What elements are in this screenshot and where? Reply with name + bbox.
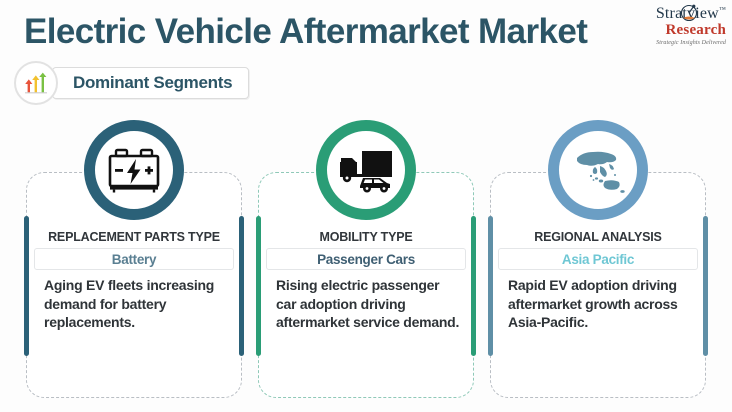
logo-tagline: Strategic Insights Delivered [634, 40, 726, 46]
card-regional-analysis[interactable]: REGIONAL ANALYSIS Asia Pacific Rapid EV … [490, 172, 706, 398]
dominant-segments-badge: Dominant Segments [14, 61, 249, 105]
logo-trademark: ™ [719, 6, 726, 14]
growth-arrows-icon [23, 72, 49, 94]
card-category-label: MOBILITY TYPE [258, 230, 474, 244]
asia-pacific-map-icon [567, 145, 629, 195]
card-value: Passenger Cars [317, 252, 415, 267]
truck-car-icon [335, 145, 397, 195]
logo-mark-icon [678, 4, 700, 24]
card-value: Battery [112, 252, 156, 267]
card-description: Rising electric passenger car adoption d… [276, 276, 460, 332]
infographic-canvas: Electric Vehicle Aftermarket Market Stra… [0, 0, 732, 412]
card-icon-ring [548, 120, 648, 220]
growth-arrows-circle [14, 61, 58, 105]
stratview-research-logo: Stratview™ Research Strategic Insights D… [634, 6, 726, 56]
segment-cards: REPLACEMENT PARTS TYPE Battery Aging EV … [0, 118, 732, 403]
dominant-segments-label-box: Dominant Segments [52, 67, 249, 99]
card-icon-ring [316, 120, 416, 220]
card-mobility-type[interactable]: MOBILITY TYPE Passenger Cars Rising elec… [258, 172, 474, 398]
card-value-pill: Asia Pacific [498, 248, 698, 270]
card-icon-ring [84, 120, 184, 220]
card-value-pill: Passenger Cars [266, 248, 466, 270]
page-title: Electric Vehicle Aftermarket Market [24, 12, 587, 52]
card-category-label: REGIONAL ANALYSIS [490, 230, 706, 244]
dominant-segments-label: Dominant Segments [73, 73, 232, 93]
card-replacement-parts-type[interactable]: REPLACEMENT PARTS TYPE Battery Aging EV … [26, 172, 242, 398]
logo-word-research: Research [634, 23, 726, 38]
card-description: Rapid EV adoption driving aftermarket gr… [508, 276, 692, 332]
battery-icon [103, 145, 165, 195]
card-category-label: REPLACEMENT PARTS TYPE [26, 230, 242, 244]
card-description: Aging EV fleets increasing demand for ba… [44, 276, 228, 332]
card-value-pill: Battery [34, 248, 234, 270]
card-value: Asia Pacific [562, 252, 634, 267]
